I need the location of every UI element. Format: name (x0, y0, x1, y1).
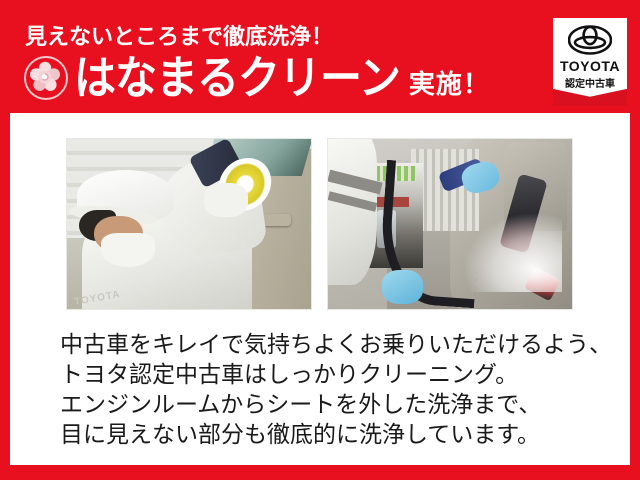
hanamaru-clean-banner: 見えないところまで徹底洗浄！ はなまるクリーン (0, 0, 640, 480)
banner-header: 見えないところまで徹底洗浄！ はなまるクリーン (0, 0, 640, 113)
photo-gallery: TOYOTA (66, 138, 574, 310)
brand-lockup: はなまるクリーン 実施！ (24, 56, 490, 101)
steam-cloud-shape (465, 214, 563, 292)
body-copy: 中古車をキレイで気持ちよくお乗りいただけるよう、 トヨタ認定中古車はしっかりクリ… (60, 330, 600, 450)
hanamaru-flower-icon (24, 56, 68, 100)
body-copy-line-3: エンジンルームからシートを外した洗浄まで、 (60, 390, 600, 420)
worker-glove-bottom-shape (382, 270, 423, 304)
photo-polishing: TOYOTA (66, 138, 312, 310)
worker-glove-shape (204, 183, 248, 217)
brand-suffix-text: 実施！ (409, 72, 490, 98)
photo-steam (327, 138, 573, 310)
toyota-wordmark-text: TOYOTA (553, 58, 627, 74)
toyota-emblem-icon (568, 25, 612, 59)
body-copy-line-2: トヨタ認定中古車はしっかりクリーニング。 (60, 360, 600, 390)
brand-name-text: はなまるクリーン (74, 56, 400, 101)
toyota-certified-badge: TOYOTA 認定中古車 (553, 18, 627, 106)
headline-text: 見えないところまで徹底洗浄！ (25, 25, 333, 51)
worker-uniform-shape (327, 138, 377, 285)
body-copy-line-1: 中古車をキレイで気持ちよくお乗りいただけるよう、 (60, 330, 600, 360)
content-panel: TOYOTA (10, 113, 630, 465)
worker-mask-shape (101, 233, 155, 267)
toyota-certified-label: 認定中古車 (553, 75, 627, 90)
body-copy-line-4: 目に見えない部分も徹底的に洗浄しています。 (60, 420, 600, 450)
